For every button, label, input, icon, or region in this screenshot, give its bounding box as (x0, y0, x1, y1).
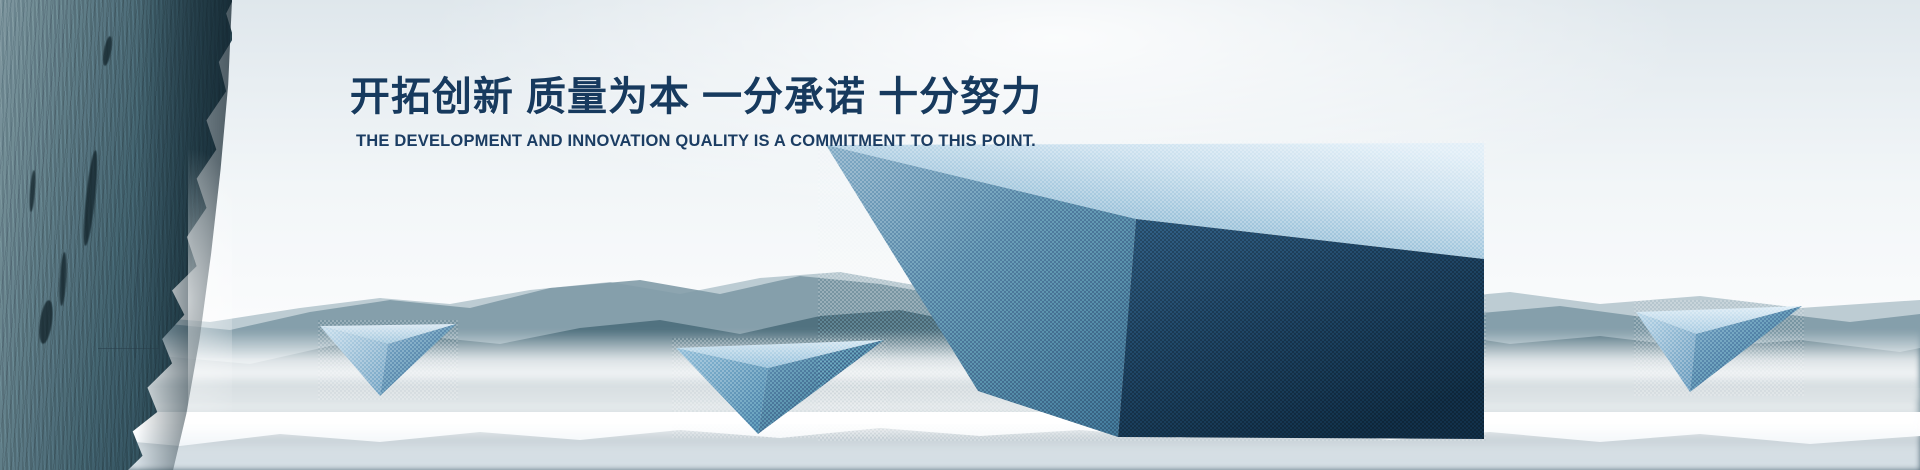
banner-text-block: 开拓创新 质量为本 一分承诺 十分努力 THE DEVELOPMENT AND … (0, 74, 1392, 151)
inverted-pyramid-small-right (1634, 300, 1804, 396)
page-title: 开拓创新 质量为本 一分承诺 十分努力 (0, 74, 1392, 120)
inverted-pyramid-small-left (318, 320, 458, 400)
cliff-edge-glow (188, 150, 232, 450)
cliff-wire-line (98, 348, 158, 349)
page-subtitle: THE DEVELOPMENT AND INNOVATION QUALITY I… (0, 132, 1392, 151)
rock-cliff (0, 0, 232, 470)
hero-banner: 开拓创新 质量为本 一分承诺 十分努力 THE DEVELOPMENT AND … (0, 0, 1920, 470)
inverted-pyramid-large (818, 141, 1486, 441)
